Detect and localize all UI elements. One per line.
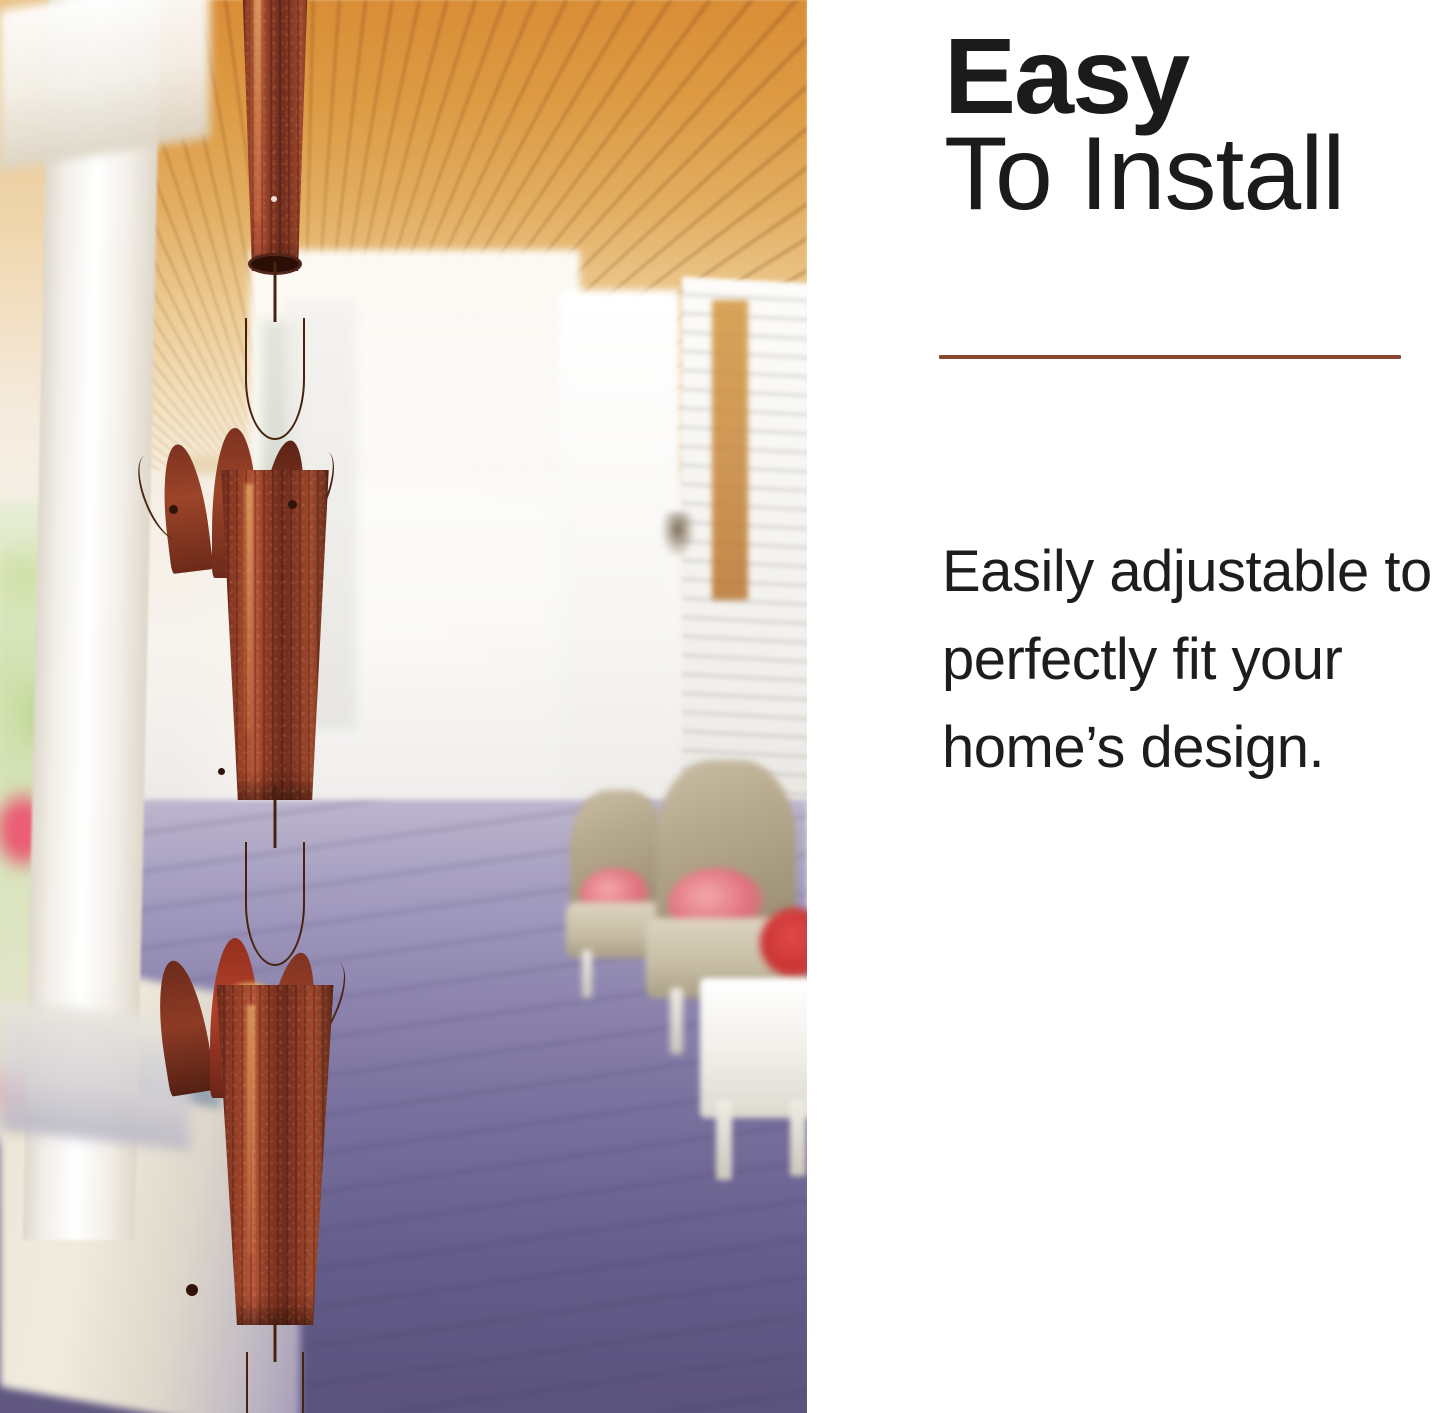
cup-texture (207, 985, 343, 1325)
cup-rivet (186, 1284, 198, 1296)
cup-highlight (247, 1005, 255, 1255)
cup-texture (227, 0, 323, 271)
chair-leg (582, 950, 592, 998)
rain-chain (150, 0, 400, 1413)
headline-block: Easy To Install (944, 22, 1344, 226)
cup-rivet (218, 768, 225, 775)
chair-leg (670, 988, 683, 1054)
copy-pane: Easy To Install Easily adjustable to per… (807, 0, 1445, 1413)
accent-divider-rule (939, 355, 1401, 359)
rain-chain-cup-bottom (207, 985, 343, 1325)
cup-rivet (271, 196, 277, 202)
table-leg (716, 1100, 732, 1180)
headline-primary: Easy (944, 22, 1344, 130)
window-trim (712, 300, 748, 600)
cup-highlight (245, 484, 253, 734)
white-side-table (700, 978, 807, 1118)
rain-chain-cup-top (227, 0, 323, 271)
feature-description: Easily adjustable to perfectly fit your … (942, 528, 1445, 792)
chain-link-stem (274, 786, 277, 848)
wall-sconce (662, 512, 694, 556)
cup-texture (211, 470, 339, 800)
cup-rivet (169, 505, 178, 514)
rain-chain-cup-middle (211, 470, 339, 800)
cup-rivet (288, 500, 297, 509)
chain-link-loop (246, 1352, 304, 1413)
chain-link-loop (245, 318, 305, 440)
cup-highlight (253, 0, 262, 222)
chain-link-stem (274, 262, 277, 322)
photo-stage (0, 0, 807, 1413)
cup-petal-left (150, 957, 216, 1097)
headline-secondary: To Install (944, 122, 1344, 226)
chain-link-loop (245, 842, 305, 966)
product-feature-panel: Easy To Install Easily adjustable to per… (0, 0, 1445, 1413)
product-photo (0, 0, 807, 1413)
table-leg (790, 1100, 806, 1176)
